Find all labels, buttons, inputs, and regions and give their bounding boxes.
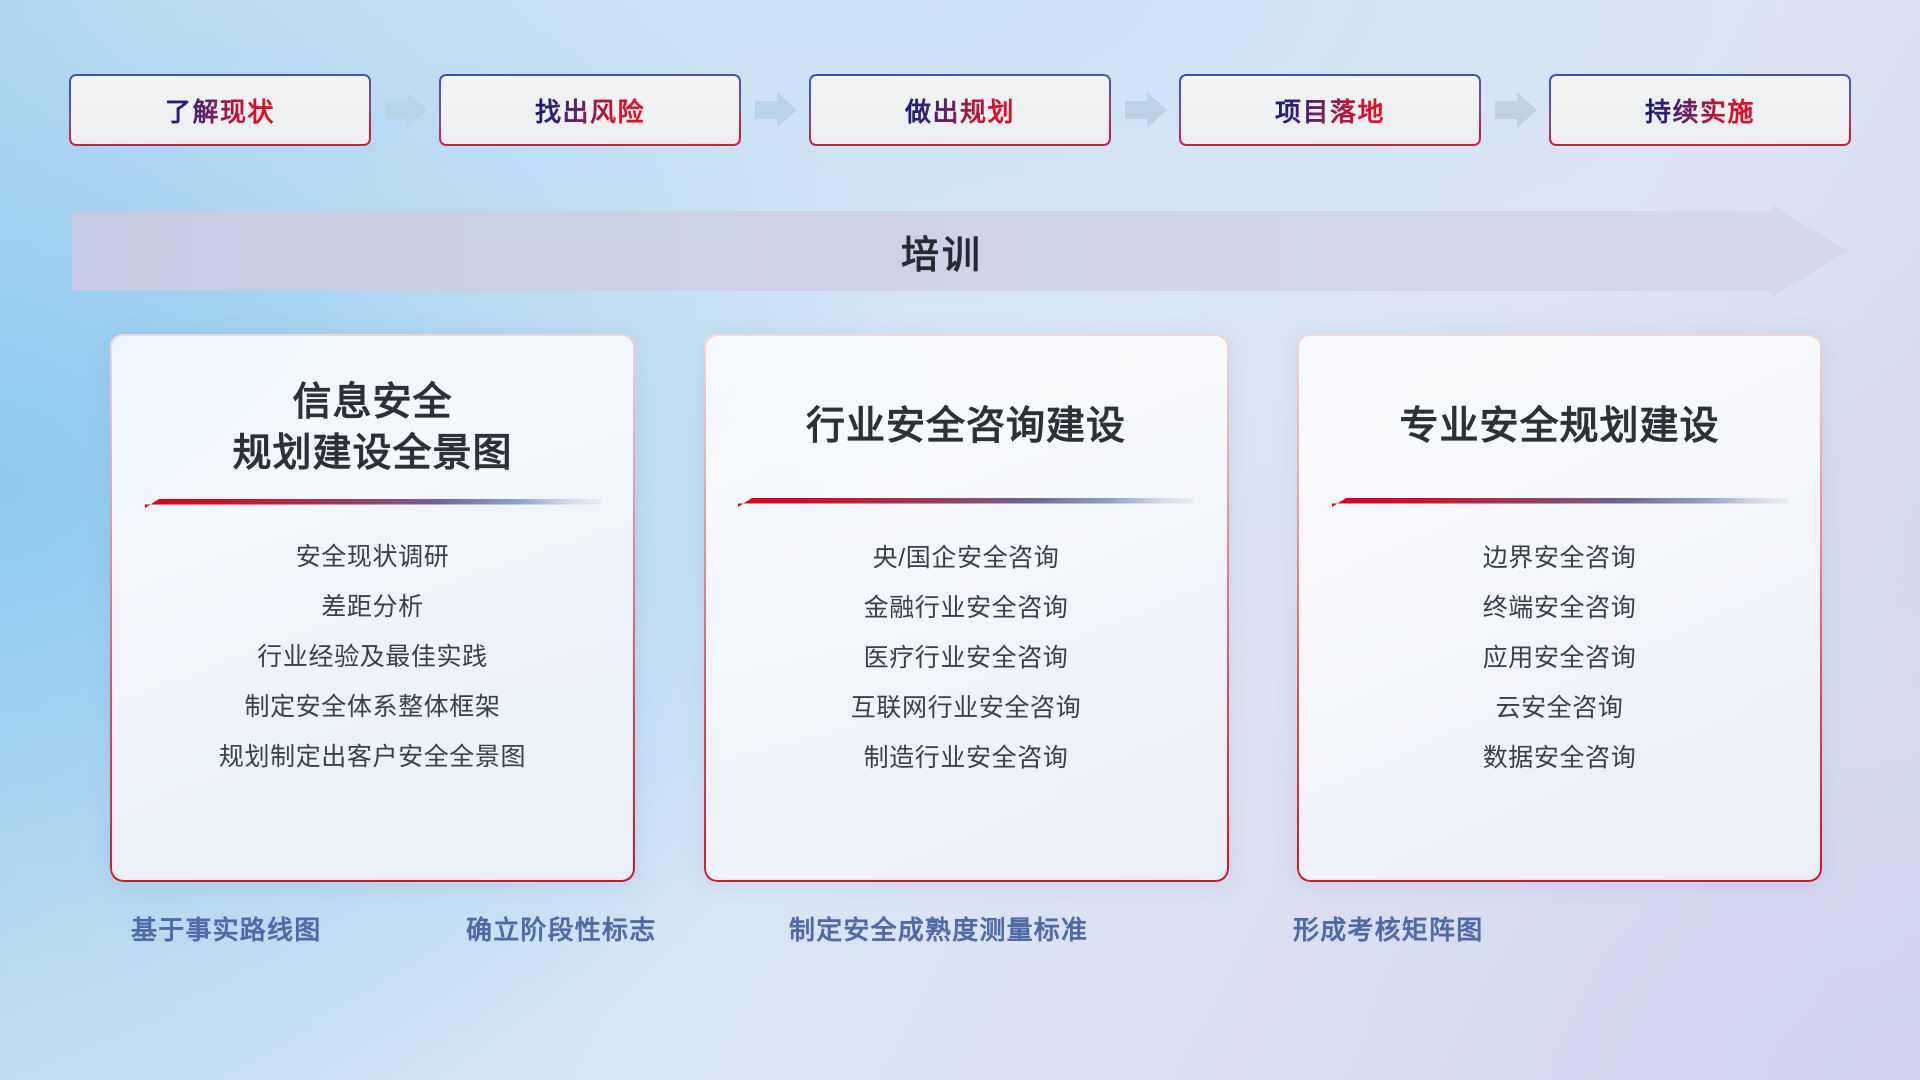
right-arrow-icon (371, 87, 439, 133)
list-item: 医疗行业安全咨询 (864, 633, 1069, 683)
cards-row: 信息安全 规划建设全景图 (110, 334, 1822, 882)
card-industry-security-consulting[interactable]: 行业安全咨询建设 (704, 334, 1229, 882)
card-title: 行业安全咨询建设 (806, 402, 1126, 453)
tapered-divider-icon (145, 497, 601, 510)
training-banner-label: 培训 (72, 205, 1848, 297)
list-item: 云安全咨询 (1495, 683, 1623, 733)
tapered-divider-icon (738, 496, 1194, 509)
footnote-label: 确立阶段性标志 (466, 910, 656, 947)
right-arrow-icon (741, 87, 809, 133)
list-item: 制定安全体系整体框架 (244, 682, 500, 732)
process-step-label: 持续实施 (1645, 92, 1755, 129)
training-banner: 培训 (72, 205, 1848, 297)
list-item: 差距分析 (321, 582, 423, 632)
card-list: 央/国企安全咨询 金融行业安全咨询 医疗行业安全咨询 互联网行业安全咨询 制造行… (738, 533, 1195, 783)
list-item: 央/国企安全咨询 (873, 533, 1060, 583)
list-item: 行业经验及最佳实践 (257, 632, 487, 682)
footnote-label: 制定安全成熟度测量标准 (789, 910, 1088, 947)
process-step-4[interactable]: 项目落地 (1179, 74, 1481, 146)
card-professional-security-planning[interactable]: 专业安全规划建设 (1297, 334, 1822, 882)
list-item: 规划制定出客户安全全景图 (219, 732, 526, 782)
right-arrow-icon (1481, 87, 1549, 133)
list-item: 数据安全咨询 (1483, 733, 1637, 783)
process-step-label: 了解现状 (165, 92, 275, 129)
process-step-5[interactable]: 持续实施 (1549, 74, 1851, 146)
card-list: 安全现状调研 差距分析 行业经验及最佳实践 制定安全体系整体框架 规划制定出客户… (144, 532, 601, 782)
list-item: 金融行业安全咨询 (864, 583, 1069, 633)
process-step-2[interactable]: 找出风险 (439, 74, 741, 146)
process-step-3[interactable]: 做出规划 (809, 74, 1111, 146)
process-step-1[interactable]: 了解现状 (69, 74, 371, 146)
list-item: 边界安全咨询 (1483, 533, 1637, 583)
card-title: 信息安全 规划建设全景图 (232, 378, 512, 479)
right-arrow-icon (1111, 87, 1179, 133)
process-step-label: 找出风险 (535, 92, 645, 129)
footnote-label: 形成考核矩阵图 (1293, 910, 1483, 947)
card-list: 边界安全咨询 终端安全咨询 应用安全咨询 云安全咨询 数据安全咨询 (1331, 533, 1788, 783)
list-item: 安全现状调研 (296, 532, 450, 582)
list-item: 应用安全咨询 (1483, 633, 1637, 683)
card-information-security[interactable]: 信息安全 规划建设全景图 (110, 334, 635, 882)
list-item: 制造行业安全咨询 (864, 733, 1069, 783)
card-title: 专业安全规划建设 (1399, 402, 1719, 453)
process-step-label: 项目落地 (1275, 92, 1385, 129)
process-step-label: 做出规划 (905, 92, 1015, 129)
process-steps-row: 了解现状 找出风险 做出规划 项目落地 持续实施 (0, 72, 1920, 148)
list-item: 终端安全咨询 (1483, 583, 1637, 633)
tapered-divider-icon (1332, 496, 1788, 509)
footnotes-row: 基于事实路线图 确立阶段性标志 制定安全成熟度测量标准 形成考核矩阵图 (0, 910, 1920, 966)
footnote-label: 基于事实路线图 (131, 910, 321, 947)
list-item: 互联网行业安全咨询 (851, 683, 1081, 733)
